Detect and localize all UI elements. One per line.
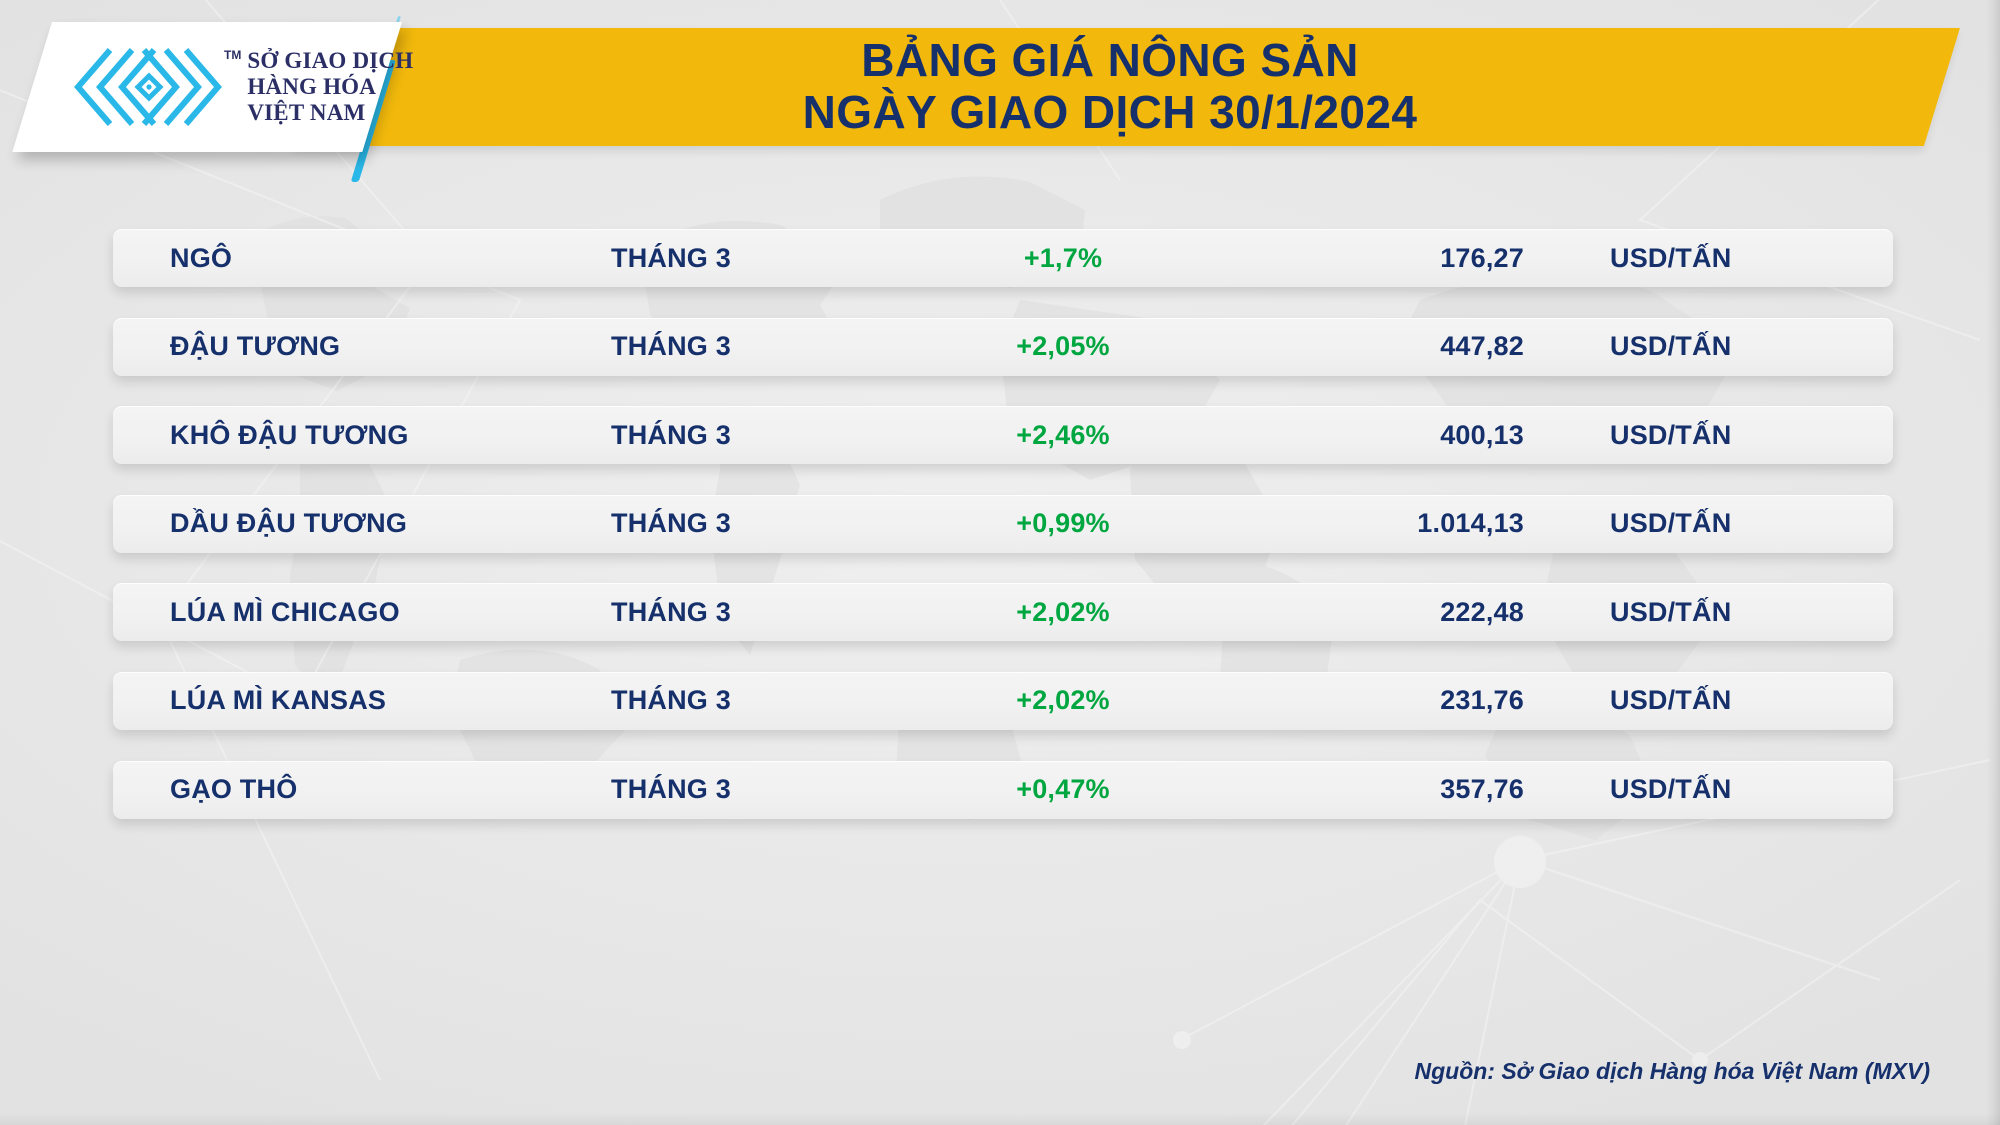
price-value-cell: 231,76: [1203, 685, 1548, 716]
commodity-name: GẠO THÔ: [170, 774, 593, 805]
price-change-percent: +2,05%: [923, 331, 1203, 362]
price-change-percent-cell: +2,02%: [923, 685, 1203, 716]
price-change-percent: +2,02%: [923, 685, 1203, 716]
contract-month-cell: THÁNG 3: [593, 243, 923, 274]
commodity-price-table: NGÔTHÁNG 3+1,7%176,27USD/TẤNĐẬU TƯƠNGTHÁ…: [113, 229, 1893, 849]
commodity-name-cell: LÚA MÌ KANSAS: [113, 685, 593, 716]
price-unit-cell: USD/TẤN: [1548, 331, 1893, 362]
page-edge-bottom-shadow: [0, 1113, 2000, 1125]
price-value: 231,76: [1203, 685, 1524, 716]
contract-month-cell: THÁNG 3: [593, 597, 923, 628]
contract-month: THÁNG 3: [611, 331, 923, 362]
trademark-symbol: TM: [224, 48, 241, 62]
price-value-cell: 1.014,13: [1203, 508, 1548, 539]
price-change-percent: +0,99%: [923, 508, 1203, 539]
page-title-line-2: NGÀY GIAO DỊCH 30/1/2024: [803, 87, 1418, 139]
price-change-percent-cell: +0,99%: [923, 508, 1203, 539]
price-value: 447,82: [1203, 331, 1524, 362]
price-value-cell: 176,27: [1203, 243, 1548, 274]
contract-month-cell: THÁNG 3: [593, 420, 923, 451]
contract-month-cell: THÁNG 3: [593, 331, 923, 362]
page-title: BẢNG GIÁ NÔNG SẢN NGÀY GIAO DỊCH 30/1/20…: [330, 30, 1890, 144]
price-value-cell: 447,82: [1203, 331, 1548, 362]
table-row: LÚA MÌ KANSASTHÁNG 3+2,02%231,76USD/TẤN: [113, 672, 1893, 730]
price-change-percent-cell: +1,7%: [923, 243, 1203, 274]
contract-month: THÁNG 3: [611, 774, 923, 805]
price-unit-cell: USD/TẤN: [1548, 685, 1893, 716]
commodity-name-cell: DẦU ĐẬU TƯƠNG: [113, 508, 593, 539]
commodity-name: LÚA MÌ KANSAS: [170, 685, 593, 716]
price-change-percent: +0,47%: [923, 774, 1203, 805]
contract-month-cell: THÁNG 3: [593, 774, 923, 805]
price-value: 176,27: [1203, 243, 1524, 274]
contract-month-cell: THÁNG 3: [593, 508, 923, 539]
table-row: NGÔTHÁNG 3+1,7%176,27USD/TẤN: [113, 229, 1893, 287]
table-row: ĐẬU TƯƠNGTHÁNG 3+2,05%447,82USD/TẤN: [113, 318, 1893, 376]
contract-month: THÁNG 3: [611, 243, 923, 274]
price-change-percent-cell: +2,05%: [923, 331, 1203, 362]
page-header: TM SỞ GIAO DỊCH HÀNG HÓA VIỆT NAM BẢNG G…: [0, 0, 2000, 175]
commodity-name-cell: NGÔ: [113, 243, 593, 274]
price-change-percent: +2,02%: [923, 597, 1203, 628]
price-value: 222,48: [1203, 597, 1524, 628]
price-change-percent: +1,7%: [923, 243, 1203, 274]
page-title-line-1: BẢNG GIÁ NÔNG SẢN: [861, 35, 1358, 87]
price-unit: USD/TẤN: [1610, 331, 1893, 362]
price-unit-cell: USD/TẤN: [1548, 597, 1893, 628]
price-change-percent-cell: +0,47%: [923, 774, 1203, 805]
price-value-cell: 400,13: [1203, 420, 1548, 451]
commodity-name: NGÔ: [170, 243, 593, 274]
contract-month: THÁNG 3: [611, 420, 923, 451]
commodity-name-cell: LÚA MÌ CHICAGO: [113, 597, 593, 628]
price-unit-cell: USD/TẤN: [1548, 508, 1893, 539]
price-change-percent-cell: +2,46%: [923, 420, 1203, 451]
price-unit-cell: USD/TẤN: [1548, 774, 1893, 805]
price-value-cell: 357,76: [1203, 774, 1548, 805]
commodity-name-cell: ĐẬU TƯƠNG: [113, 331, 593, 362]
price-value-cell: 222,48: [1203, 597, 1548, 628]
contract-month: THÁNG 3: [611, 508, 923, 539]
price-unit: USD/TẤN: [1610, 420, 1893, 451]
contract-month: THÁNG 3: [611, 685, 923, 716]
infographic-page: TM SỞ GIAO DỊCH HÀNG HÓA VIỆT NAM BẢNG G…: [0, 0, 2000, 1125]
price-unit: USD/TẤN: [1610, 774, 1893, 805]
commodity-name-cell: GẠO THÔ: [113, 774, 593, 805]
commodity-name: LÚA MÌ CHICAGO: [170, 597, 593, 628]
price-value: 1.014,13: [1203, 508, 1524, 539]
source-note: Nguồn: Sở Giao dịch Hàng hóa Việt Nam (M…: [1414, 1058, 1930, 1085]
commodity-name: DẦU ĐẬU TƯƠNG: [170, 508, 593, 539]
price-unit: USD/TẤN: [1610, 508, 1893, 539]
table-row: GẠO THÔTHÁNG 3+0,47%357,76USD/TẤN: [113, 761, 1893, 819]
price-unit-cell: USD/TẤN: [1548, 420, 1893, 451]
price-value: 400,13: [1203, 420, 1524, 451]
table-row: DẦU ĐẬU TƯƠNGTHÁNG 3+0,99%1.014,13USD/TẤ…: [113, 495, 1893, 553]
commodity-name-cell: KHÔ ĐẬU TƯƠNG: [113, 420, 593, 451]
price-change-percent: +2,46%: [923, 420, 1203, 451]
mxv-chevron-logo-icon: [70, 46, 222, 128]
price-unit-cell: USD/TẤN: [1548, 243, 1893, 274]
table-row: KHÔ ĐẬU TƯƠNGTHÁNG 3+2,46%400,13USD/TẤN: [113, 406, 1893, 464]
contract-month: THÁNG 3: [611, 597, 923, 628]
commodity-name: ĐẬU TƯƠNG: [170, 331, 593, 362]
price-unit: USD/TẤN: [1610, 597, 1893, 628]
price-change-percent-cell: +2,02%: [923, 597, 1203, 628]
price-value: 357,76: [1203, 774, 1524, 805]
commodity-name: KHÔ ĐẬU TƯƠNG: [170, 420, 593, 451]
contract-month-cell: THÁNG 3: [593, 685, 923, 716]
price-unit: USD/TẤN: [1610, 685, 1893, 716]
table-row: LÚA MÌ CHICAGOTHÁNG 3+2,02%222,48USD/TẤN: [113, 583, 1893, 641]
price-unit: USD/TẤN: [1610, 243, 1893, 274]
